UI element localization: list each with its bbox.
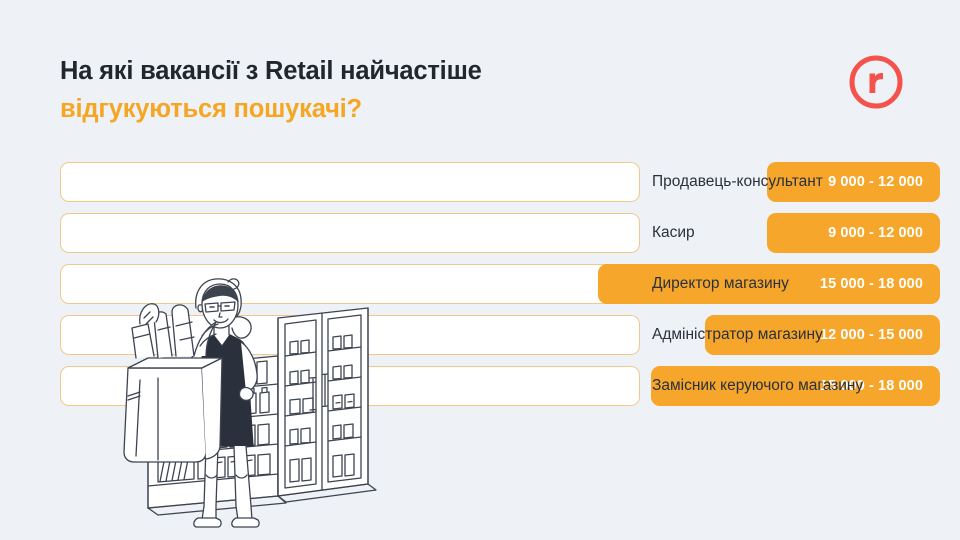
bar-chart: 9 000 - 12 000 Продавець-консультант 9 0… (60, 162, 940, 417)
robota-logo-icon (848, 54, 904, 110)
bar-track (60, 366, 640, 406)
robota-logo (848, 54, 904, 110)
bar-track (60, 315, 640, 355)
infographic-canvas: На які вакансії з Retail найчастіше відг… (0, 0, 960, 540)
bar-value-label: 15 000 - 18 000 (820, 276, 923, 292)
bar-row: 15 000 - 18 000 Замісник керуючого магаз… (60, 366, 940, 406)
bar-category-label: Касир (652, 213, 695, 253)
bar-value-label: 9 000 - 12 000 (828, 174, 923, 190)
title-line-primary: На які вакансії з Retail найчастіше (60, 52, 700, 90)
bar-row: 15 000 - 18 000 Директор магазину (60, 264, 940, 304)
bar-category-label: Замісник керуючого магазину (652, 366, 863, 406)
bar-row: 9 000 - 12 000 Касир (60, 213, 940, 253)
bar-value-label: 12 000 - 15 000 (820, 327, 923, 343)
bar-track (60, 213, 640, 253)
bar-category-label: Директор магазину (652, 264, 789, 304)
bar-row: 12 000 - 15 000 Адміністратор магазину (60, 315, 940, 355)
bar-category-label: Адміністратор магазину (652, 315, 823, 355)
title-line-accent: відгукуються пошукачі? (60, 90, 700, 128)
bar-fill: 9 000 - 12 000 (767, 213, 940, 253)
bar-track (60, 162, 640, 202)
page-title: На які вакансії з Retail найчастіше відг… (60, 52, 700, 128)
bar-track (60, 264, 640, 304)
bar-row: 9 000 - 12 000 Продавець-консультант (60, 162, 940, 202)
bar-category-label: Продавець-консультант (652, 162, 823, 202)
bar-value-label: 9 000 - 12 000 (828, 225, 923, 241)
